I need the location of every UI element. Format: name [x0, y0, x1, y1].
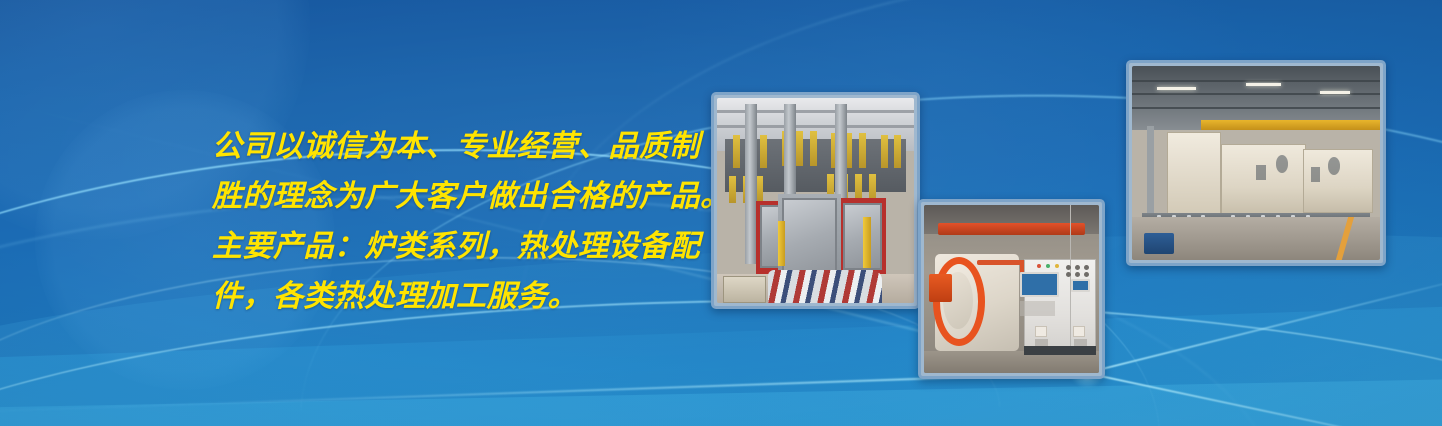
rack-bar — [760, 135, 767, 168]
photo-vacuum-furnace-with-control-cabinet — [918, 199, 1105, 379]
furnace-fan-housing — [1328, 157, 1340, 174]
yellow-guard-post-left — [778, 221, 785, 266]
cabinet-keypad[interactable] — [1020, 301, 1055, 316]
red-overhead-crane-beam — [938, 223, 1085, 235]
ceiling-light — [1246, 83, 1281, 86]
ceiling-light — [1320, 91, 1350, 94]
striped-tarpaulin — [768, 270, 882, 303]
photo-2-image — [924, 205, 1099, 373]
yellow-crane-rail — [1201, 120, 1380, 130]
rack-bar — [859, 133, 866, 168]
headline-line-2: 胜的理念为广大客户做出合格的产品。 — [212, 172, 732, 222]
roof-purlin — [1132, 80, 1380, 82]
ceiling-light — [1157, 87, 1197, 90]
headline-line-3: 主要产品：炉类系列，热处理设备配 — [212, 222, 732, 272]
light-ray-right-lower — [1086, 372, 1442, 426]
roof-purlin — [1132, 107, 1380, 109]
photo-1-image — [717, 98, 914, 303]
rack-bar-lower — [756, 176, 763, 203]
headline-line-4: 件，各类热处理加工服务。 — [212, 272, 732, 322]
yellow-guard-post-right — [863, 217, 871, 268]
secondary-display[interactable] — [1071, 279, 1090, 292]
door-control-box — [929, 274, 952, 303]
rack-bar-lower — [729, 176, 736, 203]
photo-3-image — [1132, 66, 1380, 260]
hmi-touch-screen[interactable] — [1020, 272, 1059, 297]
photo-box-type-heat-treatment-furnace — [711, 92, 920, 309]
steel-column — [745, 104, 757, 264]
indicator-led-amber — [1055, 264, 1059, 268]
furnace-main-chamber — [1221, 144, 1305, 218]
rack-bar — [881, 135, 888, 168]
rack-bar — [796, 131, 803, 166]
furnace-fan-housing — [1276, 155, 1288, 172]
background-wave-band-3 — [0, 376, 1442, 426]
charging-machine-frame — [1147, 126, 1154, 223]
cabinet-base-skirt — [1024, 346, 1096, 354]
photo-continuous-furnace-production-line — [1126, 60, 1386, 266]
orange-pipe-top — [977, 260, 1026, 265]
warning-label-icon — [1073, 326, 1085, 337]
headline-line-1: 公司以诚信为本、专业经营、品质制 — [212, 122, 732, 172]
company-profile-banner: 公司以诚信为本、专业经营、品质制 胜的理念为广大客户做出合格的产品。 主要产品：… — [0, 0, 1442, 426]
main-furnace-door — [782, 198, 837, 280]
control-box — [1311, 167, 1321, 183]
cabinet-button[interactable] — [1084, 272, 1089, 277]
headline-text-block: 公司以诚信为本、专业经营、品质制 胜的理念为广大客户做出合格的产品。 主要产品：… — [212, 122, 732, 322]
control-box — [1256, 165, 1266, 181]
blue-quench-tank — [1144, 233, 1174, 254]
rack-bar — [733, 135, 740, 168]
cabinet-button[interactable] — [1075, 272, 1080, 277]
indicator-led-green — [1046, 264, 1050, 268]
rack-bar — [810, 131, 817, 166]
warning-label-icon — [1035, 326, 1047, 337]
furnace-entry-module — [1167, 132, 1222, 225]
equipment-crate — [723, 276, 766, 303]
rack-bar — [894, 135, 901, 168]
